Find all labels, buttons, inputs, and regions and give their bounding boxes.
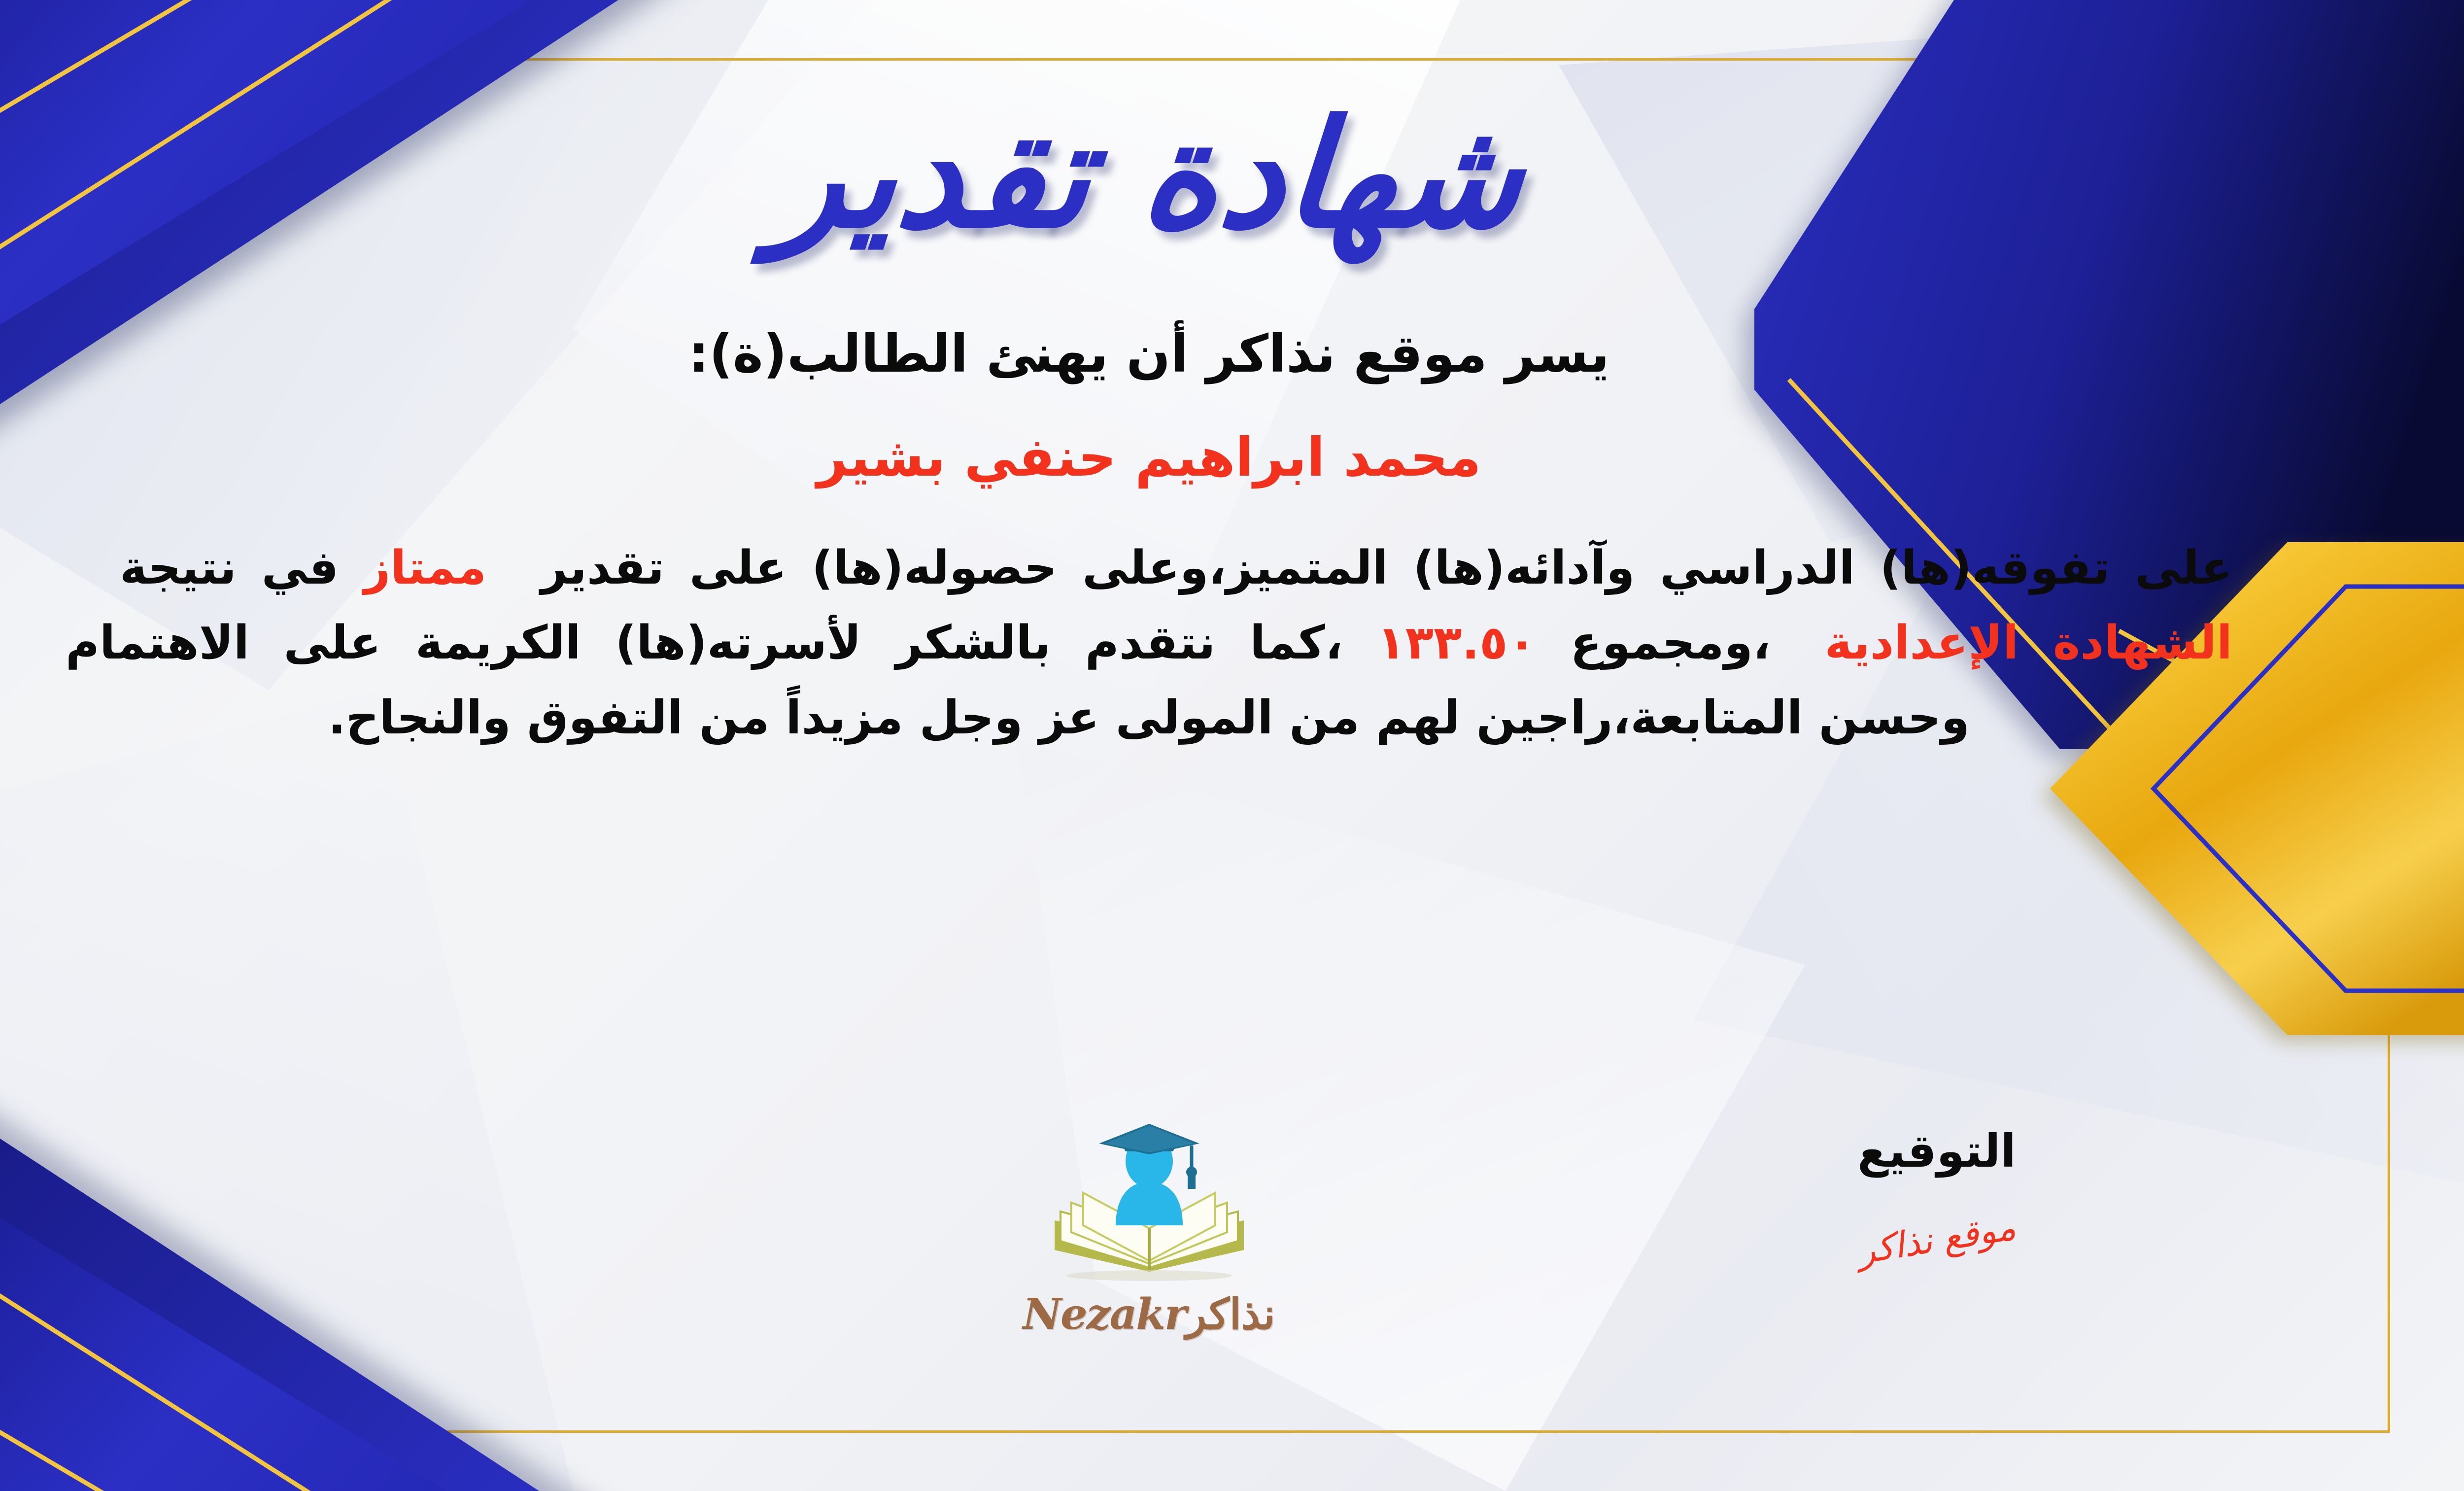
graduation-cap-book-logo-icon (1046, 1124, 1253, 1286)
student-name: محمد ابراهيم حنفي بشير (46, 423, 2252, 492)
certificate-content: شهادة تقدير يسر موقع نذاكر أن يهنئ الطال… (46, 74, 2252, 756)
signature-mark: موقع نذاكر (1855, 1206, 2019, 1272)
certificate-title: شهادة تقدير (39, 74, 2259, 262)
achievement-paragraph: على تفوقه(ها) الدراسي وآدائه(ها) المتميز… (46, 531, 2252, 756)
intro-line: يسر موقع نذاكر أن يهنئ الطالب(ة): (46, 320, 2252, 388)
certificate-footer: التوقيع موقع نذاكر (46, 1129, 2252, 1434)
site-logo: نذاكرNezakr (962, 1124, 1336, 1339)
logo-latin-text: Nezakr (1023, 1289, 1186, 1339)
grade-value: ممتاز (364, 541, 486, 595)
total-prefix: ،ومجموع (1570, 616, 1770, 670)
achievement-line-1: على تفوقه(ها) الدراسي وآدائه(ها) المتميز… (541, 541, 2232, 595)
achievement-line-4: مزيداً من التفوق والنجاح. (328, 691, 903, 745)
total-score-value: ١٣٣.٥٠ (1377, 616, 1536, 670)
logo-arabic-text: نذاكر (1186, 1289, 1275, 1339)
thanks-clause: ،كما نتقدم بالشكر لأسرته(ها) (615, 616, 1342, 670)
certificate-canvas: شهادة تقدير يسر موقع نذاكر أن يهنئ الطال… (0, 0, 2464, 1491)
signature-label: التوقيع (1784, 1129, 2089, 1174)
exam-prefix: في نتيجة (120, 541, 339, 595)
logo-wordmark: نذاكرNezakr (962, 1289, 1336, 1339)
signature-block: التوقيع موقع نذاكر (1784, 1129, 2089, 1260)
exam-name: الشهادة الإعدادية (1825, 616, 2232, 670)
